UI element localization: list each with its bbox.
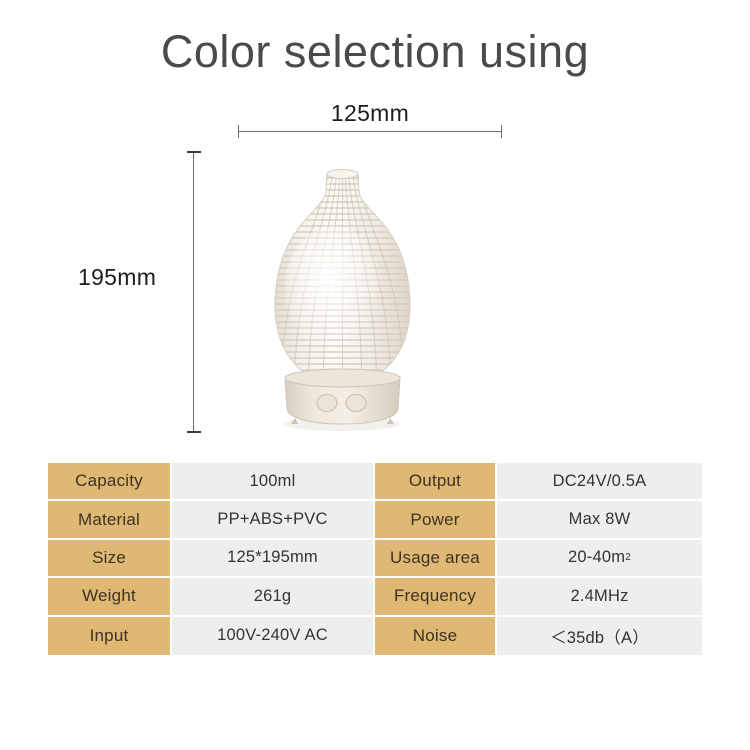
table-row: Power <box>375 501 497 539</box>
table-row: Noise <box>375 617 497 655</box>
width-dimension-line <box>238 131 502 132</box>
table-row: Material <box>48 501 172 539</box>
table-row: Max 8W <box>497 501 702 539</box>
height-dimension-line <box>193 152 194 433</box>
width-dimension-cap-left <box>238 125 239 138</box>
table-row: 20-40m2 <box>497 540 702 578</box>
table-row: 100V-240V AC <box>172 617 375 655</box>
table-row: 261g <box>172 578 375 616</box>
power-button[interactable] <box>317 395 337 412</box>
width-dimension-label: 125mm <box>238 100 502 127</box>
specification-table: Capacity 100ml Output DC24V/0.5A Materia… <box>48 463 702 655</box>
height-dimension-cap-top <box>187 151 201 153</box>
height-dimension-cap-bottom <box>187 431 201 433</box>
table-row: 125*195mm <box>172 540 375 578</box>
body-highlight <box>285 226 381 350</box>
diffuser-illustration <box>255 168 430 436</box>
width-dimension: 125mm <box>238 100 502 140</box>
table-row: ＜35db（A） <box>497 617 702 655</box>
usage-area-value: 20-40m <box>568 548 625 567</box>
base-top-rim <box>285 369 400 387</box>
diffuser-base <box>285 369 400 424</box>
table-row: Size <box>48 540 172 578</box>
height-dimension <box>185 150 203 435</box>
table-row: Weight <box>48 578 172 616</box>
height-dimension-label: 195mm <box>78 264 156 291</box>
table-row: DC24V/0.5A <box>497 463 702 501</box>
table-row: Frequency <box>375 578 497 616</box>
table-row: Output <box>375 463 497 501</box>
neck-opening <box>327 170 358 179</box>
product-image <box>255 168 430 436</box>
diffuser-body <box>255 168 430 384</box>
page-title: Color selection using <box>0 26 750 78</box>
table-row: Usage area <box>375 540 497 578</box>
light-button[interactable] <box>346 395 366 412</box>
table-row: PP+ABS+PVC <box>172 501 375 539</box>
width-dimension-cap-right <box>501 125 502 138</box>
table-row: 2.4MHz <box>497 578 702 616</box>
table-row: 100ml <box>172 463 375 501</box>
table-row: Input <box>48 617 172 655</box>
table-row: Capacity <box>48 463 172 501</box>
